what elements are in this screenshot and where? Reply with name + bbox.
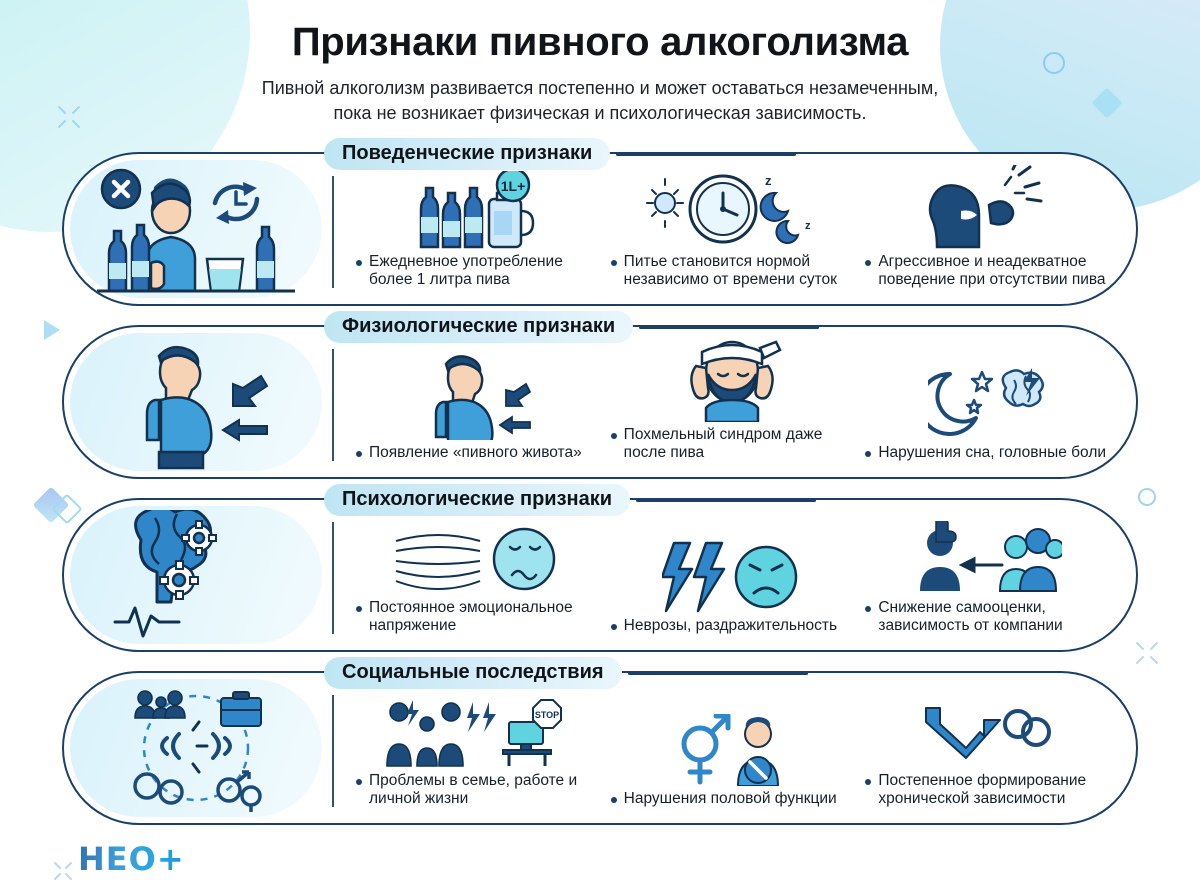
section-title: Психологические признаки (324, 484, 630, 516)
section-divider (332, 695, 334, 807)
family-conflict-work-stop-icon: STOP (385, 698, 570, 768)
item-bullet: Появление «пивного живота» (356, 444, 599, 463)
section-item: STOP Проблемы в семье, работе и личной ж… (350, 673, 605, 809)
downward-arrow-chain-links-icon (922, 706, 1052, 768)
item-illustration (865, 673, 1108, 771)
brain-with-gears-icon (101, 510, 291, 640)
item-text: Постепенное формирование хронической зав… (878, 772, 1108, 810)
item-text: Нарушения половой функции (624, 790, 837, 809)
section-illustration-pane (70, 506, 322, 644)
broken-chain-family-work-icon (101, 684, 291, 812)
section-item: Неврозы, раздражительность (605, 500, 860, 636)
item-text: Нарушения сна, головные боли (878, 444, 1106, 463)
svg-text:z: z (805, 220, 811, 232)
section-title: Социальные последствия (324, 657, 622, 689)
section-item: Снижение самооценки, зависимость от комп… (859, 500, 1114, 636)
lightning-angry-face-icon (662, 541, 802, 613)
item-text: Похмельный синдром даже после пива (624, 426, 854, 464)
svg-text:z: z (765, 173, 772, 188)
section-title: Физиологические признаки (324, 311, 633, 343)
section-divider (332, 176, 334, 288)
sections-list: 1L+ Ежедневное употребление более 1 литр… (0, 138, 1200, 825)
section-items: Постоянное эмоциональное напряжение (334, 500, 1136, 650)
bullet-dot (611, 797, 617, 803)
section-label: Социальные последствия (324, 657, 808, 689)
bullet-dot (356, 606, 362, 612)
item-text: Снижение самооценки, зависимость от комп… (878, 599, 1108, 637)
section-row: Появление «пивного живота» (62, 311, 1138, 479)
bullet-dot (356, 779, 362, 785)
item-text: Агрессивное и неадекватное поведение при… (878, 253, 1108, 291)
moon-stars-brain-icon (928, 366, 1046, 440)
item-bullet: Снижение самооценки, зависимость от комп… (865, 599, 1108, 637)
section-rule (616, 153, 796, 156)
section-items: STOP Проблемы в семье, работе и личной ж… (334, 673, 1136, 823)
item-bullet: Постепенное формирование хронической зав… (865, 772, 1108, 810)
bullet-dot (865, 260, 871, 266)
item-illustration (865, 154, 1108, 252)
section-rule (636, 499, 816, 502)
section-rule (628, 672, 808, 675)
bullet-dot (611, 624, 617, 630)
section-item: Постоянное эмоциональное напряжение (350, 500, 605, 636)
item-bullet: Агрессивное и неадекватное поведение при… (865, 253, 1108, 291)
page-subtitle: Пивной алкоголизм развивается постепенно… (0, 76, 1200, 126)
section-card: Постоянное эмоциональное напряжение (62, 498, 1138, 652)
item-text: Постоянное эмоциональное напряжение (369, 599, 599, 637)
brand-logo-text: НЕО+ (78, 840, 185, 878)
section-row: Постоянное эмоциональное напряжение (62, 484, 1138, 652)
three-bottles-and-mug-1l-icon: 1L+ (415, 171, 540, 249)
bullet-dot (356, 260, 362, 266)
section-card: STOP Проблемы в семье, работе и личной ж… (62, 671, 1138, 825)
belly-profile-arrows-icon (422, 348, 532, 440)
item-text: Проблемы в семье, работе и личной жизни (369, 772, 599, 810)
clock-day-night-icon: z z (645, 169, 820, 249)
section-item: Постепенное формирование хронической зав… (859, 673, 1114, 809)
gender-symbol-blocked-icon (672, 714, 792, 786)
item-text: Появление «пивного живота» (369, 444, 582, 463)
item-illustration (356, 327, 599, 444)
section-divider (332, 522, 334, 634)
item-illustration (865, 500, 1108, 598)
item-text: Питье становится нормой независимо от вр… (624, 253, 854, 291)
section-rule (639, 326, 819, 329)
page-subtitle-line-2: пока не возникает физическая и психологи… (0, 101, 1200, 126)
sparkle-icon (52, 860, 74, 882)
item-bullet: Питье становится нормой независимо от вр… (611, 253, 854, 291)
thumbs-down-group-icon (912, 521, 1062, 595)
svg-text:STOP: STOP (535, 710, 559, 720)
item-illustration (611, 673, 854, 790)
section-card: Появление «пивного живота» (62, 325, 1138, 479)
beer-belly-profile-icon (121, 334, 271, 470)
section-row: STOP Проблемы в семье, работе и личной ж… (62, 657, 1138, 825)
item-bullet: Проблемы в семье, работе и личной жизни (356, 772, 599, 810)
man-with-beer-bottles-icon (87, 163, 305, 295)
section-illustration-pane (70, 679, 322, 817)
section-item: 1L+ Ежедневное употребление более 1 литр… (350, 154, 605, 290)
section-item: Появление «пивного живота» (350, 327, 605, 463)
item-bullet: Постоянное эмоциональное напряжение (356, 599, 599, 637)
shouting-man-fist-icon (927, 165, 1047, 249)
section-illustration-pane (70, 333, 322, 471)
footer-logo: НЕО+ (78, 840, 185, 878)
section-card: 1L+ Ежедневное употребление более 1 литр… (62, 152, 1138, 306)
section-illustration-pane (70, 160, 322, 298)
section-item: Нарушения половой функции (605, 673, 860, 809)
svg-text:1L+: 1L+ (501, 178, 526, 194)
section-label: Поведенческие признаки (324, 138, 796, 170)
page-header: Признаки пивного алкоголизма Пивной алко… (0, 0, 1200, 126)
section-label: Психологические признаки (324, 484, 816, 516)
item-bullet: Нарушения сна, головные боли (865, 444, 1108, 463)
section-items: 1L+ Ежедневное употребление более 1 литр… (334, 154, 1136, 304)
item-text: Ежедневное употребление более 1 литра пи… (369, 253, 599, 291)
bullet-dot (865, 779, 871, 785)
item-bullet: Ежедневное употребление более 1 литра пи… (356, 253, 599, 291)
section-title: Поведенческие признаки (324, 138, 610, 170)
tension-lines-worried-face-icon (392, 523, 562, 595)
item-bullet: Похмельный синдром даже после пива (611, 426, 854, 464)
section-row: 1L+ Ежедневное употребление более 1 литр… (62, 138, 1138, 306)
item-illustration (611, 500, 854, 617)
section-item: Нарушения сна, головные боли (859, 327, 1114, 463)
section-items: Появление «пивного живота» (334, 327, 1136, 477)
section-divider (332, 349, 334, 461)
bullet-dot (356, 451, 362, 457)
bullet-dot (611, 433, 617, 439)
item-bullet: Нарушения половой функции (611, 790, 854, 809)
section-item: Агрессивное и неадекватное поведение при… (859, 154, 1114, 290)
bullet-dot (865, 451, 871, 457)
bullet-dot (611, 260, 617, 266)
section-item: z z Питье становится нормой независимо о… (605, 154, 860, 290)
section-item: Похмельный синдром даже после пива (605, 327, 860, 463)
item-bullet: Неврозы, раздражительность (611, 617, 854, 636)
section-label: Физиологические признаки (324, 311, 819, 343)
item-illustration (865, 327, 1108, 444)
bullet-dot (865, 606, 871, 612)
page-subtitle-line-1: Пивной алкоголизм развивается постепенно… (0, 76, 1200, 101)
item-text: Неврозы, раздражительность (624, 617, 837, 636)
page-title: Признаки пивного алкоголизма (0, 20, 1200, 64)
